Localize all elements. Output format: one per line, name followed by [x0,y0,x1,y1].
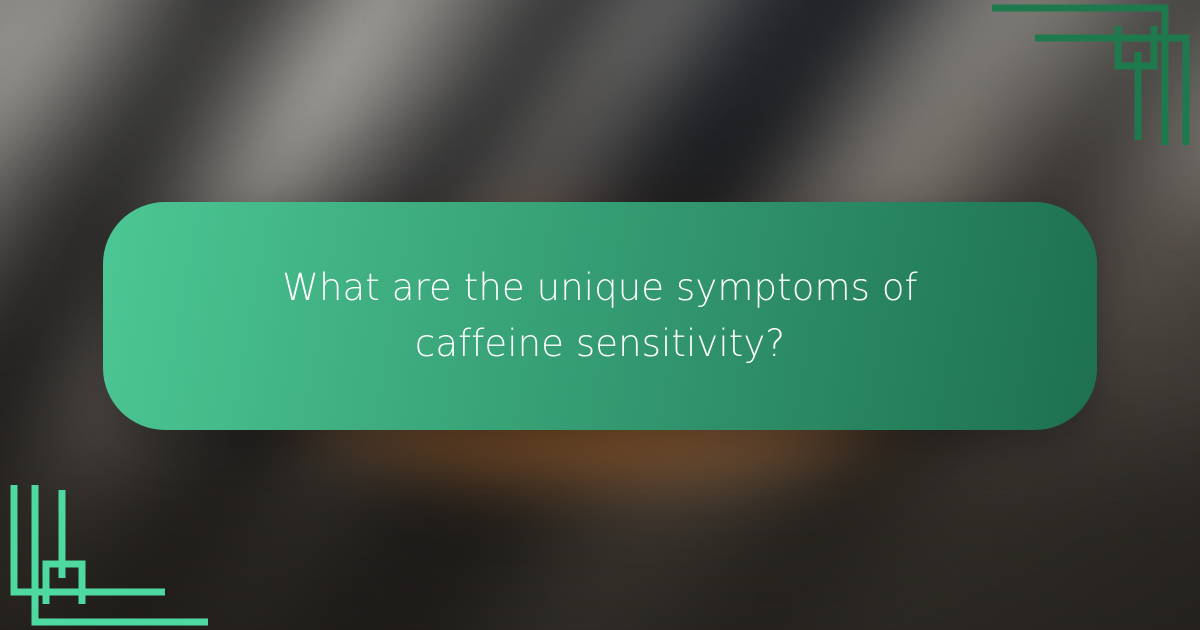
question-text: What are the unique symptoms of caffeine… [220,260,980,372]
corner-ornament-top-right-icon [990,0,1200,145]
corner-ornament-top-right [990,0,1200,145]
share-card-canvas: What are the unique symptoms of caffeine… [0,0,1200,630]
corner-ornament-bottom-left [0,485,210,630]
question-card: What are the unique symptoms of caffeine… [103,202,1097,430]
corner-ornament-bottom-left-icon [0,485,210,630]
